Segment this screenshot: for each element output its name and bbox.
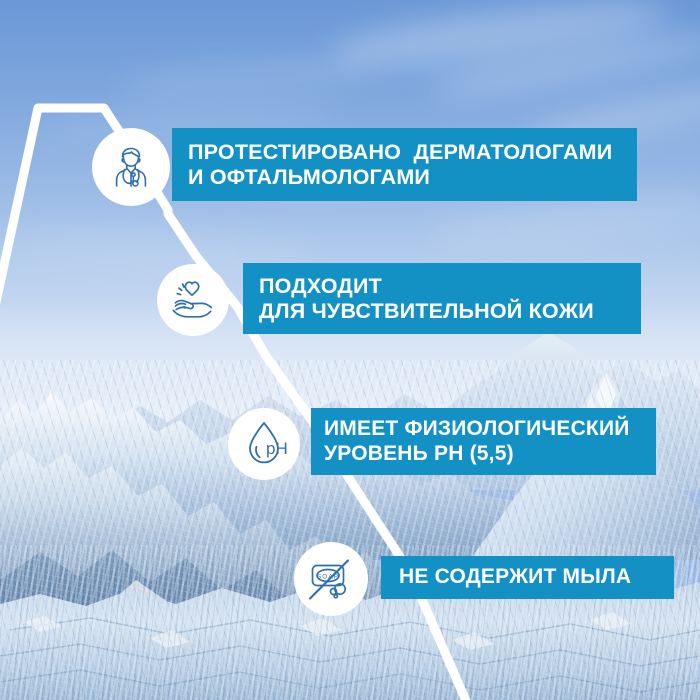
no-soap-icon: SOAP [304, 552, 358, 606]
feature-icon-badge-ph: pH [228, 408, 300, 480]
feature-banner-soap-free: НЕ СОДЕРЖИТ МЫЛА [381, 556, 674, 599]
promo-poster: pH SOAP ПРОТЕСТИРОВАНО ДЕРМАТОЛОГАМИ И О… [0, 0, 700, 700]
ph-label: pH [266, 439, 288, 458]
feature-icon-badge-dermatologist [92, 128, 170, 206]
feature-icon-badge-soap-free: SOAP [294, 542, 368, 616]
banner-line: НЕ СОДЕРЖИТ МЫЛА [399, 565, 674, 589]
feature-banner-dermatologist: ПРОТЕСТИРОВАНО ДЕРМАТОЛОГАМИ И ОФТАЛЬМОЛ… [172, 128, 637, 201]
banner-line: И ОФТАЛЬМОЛОГАМИ [188, 165, 637, 190]
ph-water-drop-icon: pH [238, 418, 290, 470]
banner-line: ПРОТЕСТИРОВАНО ДЕРМАТОЛОГАМИ [188, 140, 637, 165]
banner-line: ДЛЯ ЧУВСТВИТЕЛЬНОЙ КОЖИ [259, 299, 641, 324]
doctor-stethoscope-icon [105, 141, 157, 193]
hand-holding-heart-icon [168, 275, 218, 325]
banner-line: ПОДХОДИТ [259, 274, 641, 299]
feature-icon-badge-sensitive-skin [157, 264, 229, 336]
banner-line: ИМЕЕТ ФИЗИОЛОГИЧЕСКИЙ [324, 417, 656, 441]
feature-banner-sensitive-skin: ПОДХОДИТ ДЛЯ ЧУВСТВИТЕЛЬНОЙ КОЖИ [243, 263, 641, 334]
feature-banner-ph: ИМЕЕТ ФИЗИОЛОГИЧЕСКИЙ УРОВЕНЬ РН (5,5) [311, 408, 656, 475]
banner-line: УРОВЕНЬ РН (5,5) [324, 442, 656, 466]
